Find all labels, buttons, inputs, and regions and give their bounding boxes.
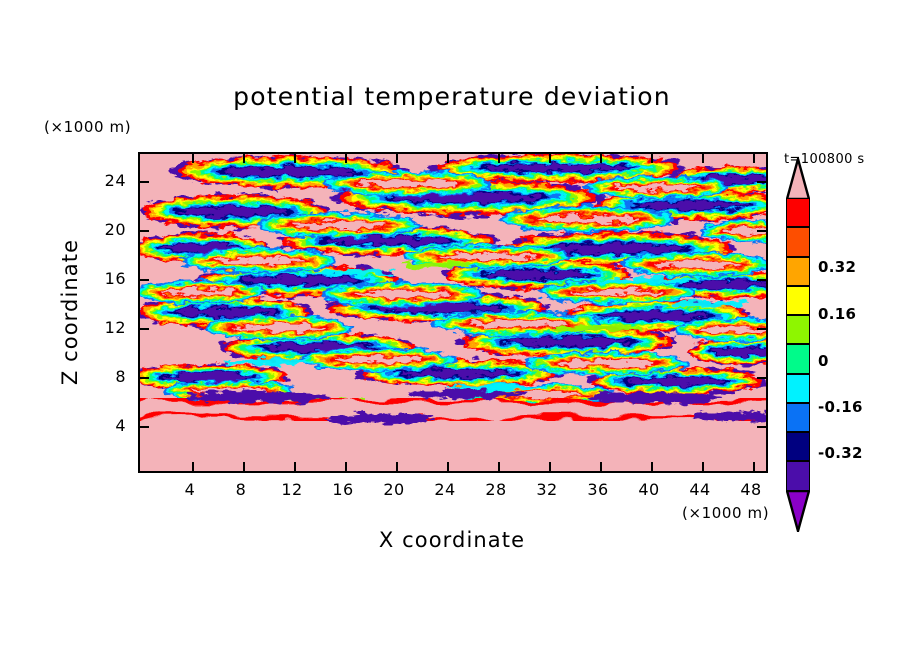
colorbar-bottom-arrow — [786, 490, 810, 532]
colorbar-band — [786, 315, 810, 344]
x-tick — [345, 462, 347, 471]
x-tick-top — [498, 154, 500, 163]
colorbar — [786, 198, 810, 520]
x-tick — [396, 462, 398, 471]
colorbar-band — [786, 432, 810, 461]
x-tick-top — [651, 154, 653, 163]
x-tick-top — [447, 154, 449, 163]
x-tick-label: 28 — [476, 480, 516, 499]
x-tick — [447, 462, 449, 471]
y-tick-label: 8 — [86, 367, 126, 386]
x-tick-label: 32 — [527, 480, 567, 499]
x-tick-label: 20 — [374, 480, 414, 499]
x-tick — [702, 462, 704, 471]
y-tick — [140, 377, 149, 379]
y-tick-right — [757, 426, 766, 428]
contour-plot-area — [138, 152, 768, 473]
y-tick — [140, 328, 149, 330]
x-tick-label: 36 — [578, 480, 618, 499]
x-tick-label: 40 — [629, 480, 669, 499]
colorbar-band — [786, 286, 810, 315]
x-tick-label: 48 — [731, 480, 771, 499]
x-tick-label: 44 — [680, 480, 720, 499]
x-tick-label: 24 — [425, 480, 465, 499]
x-tick-top — [192, 154, 194, 163]
x-tick — [549, 462, 551, 471]
colorbar-band — [786, 257, 810, 286]
x-tick — [498, 462, 500, 471]
colorbar-band — [786, 403, 810, 432]
x-tick — [753, 462, 755, 471]
y-tick-right — [757, 377, 766, 379]
colorbar-band — [786, 198, 810, 227]
y-tick-right — [757, 279, 766, 281]
y-axis-title: Z coordinate — [58, 202, 82, 422]
x-tick-top — [753, 154, 755, 163]
y-tick — [140, 181, 149, 183]
x-tick-label: 4 — [170, 480, 210, 499]
y-tick — [140, 279, 149, 281]
colorbar-band — [786, 344, 810, 373]
page-title: potential temperature deviation — [0, 82, 904, 111]
y-tick-right — [757, 181, 766, 183]
colorbar-top-arrow — [786, 158, 810, 200]
x-tick — [243, 462, 245, 471]
x-tick-top — [294, 154, 296, 163]
y-tick — [140, 426, 149, 428]
y-tick-label: 4 — [86, 416, 126, 435]
x-tick-label: 12 — [272, 480, 312, 499]
y-axis-unit-label: (×1000 m) — [44, 118, 131, 136]
x-tick — [600, 462, 602, 471]
x-tick-top — [243, 154, 245, 163]
x-tick-label: 16 — [323, 480, 363, 499]
y-tick-right — [757, 328, 766, 330]
y-tick-label: 24 — [86, 171, 126, 190]
colorbar-band — [786, 227, 810, 256]
x-tick-top — [702, 154, 704, 163]
x-tick-label: 8 — [221, 480, 261, 499]
colorbar-label: -0.32 — [818, 444, 863, 462]
y-tick — [140, 230, 149, 232]
x-axis-title: X coordinate — [0, 528, 904, 552]
y-tick-right — [757, 230, 766, 232]
contour-field — [140, 154, 766, 471]
x-tick-top — [549, 154, 551, 163]
x-tick-top — [600, 154, 602, 163]
colorbar-band — [786, 461, 810, 490]
colorbar-band — [786, 374, 810, 403]
x-tick — [294, 462, 296, 471]
colorbar-label: 0 — [818, 352, 829, 370]
y-tick-label: 16 — [86, 269, 126, 288]
x-tick-top — [396, 154, 398, 163]
colorbar-label: -0.16 — [818, 398, 863, 416]
colorbar-label: 0.32 — [818, 258, 856, 276]
y-tick-label: 12 — [86, 318, 126, 337]
x-axis-unit-label: (×1000 m) — [682, 504, 769, 522]
colorbar-label: 0.16 — [818, 305, 856, 323]
x-tick-top — [345, 154, 347, 163]
x-tick — [192, 462, 194, 471]
x-tick — [651, 462, 653, 471]
y-tick-label: 20 — [86, 220, 126, 239]
